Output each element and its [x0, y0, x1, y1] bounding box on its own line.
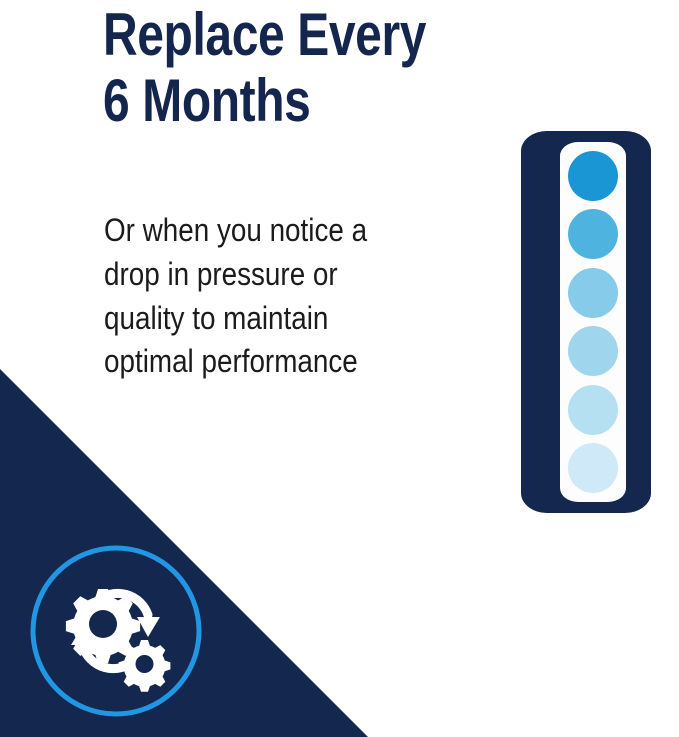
cartridge-capacity-window	[560, 142, 626, 502]
gear-small-icon	[119, 640, 171, 692]
infographic-canvas: Replace Every 6 Months Or when you notic…	[0, 0, 679, 737]
page-title: Replace Every 6 Months	[103, 2, 479, 134]
replacement-cycle-icon	[28, 543, 204, 719]
subtitle-text: Or when you notice a drop in pressure or…	[104, 209, 452, 384]
capacity-dot	[568, 385, 618, 435]
capacity-dot	[568, 209, 618, 259]
arrow-clockwise-head-icon	[137, 617, 160, 637]
capacity-dot	[568, 326, 618, 376]
capacity-dot	[568, 268, 618, 318]
capacity-dot	[568, 151, 618, 201]
water-filter-cartridge	[521, 131, 651, 513]
capacity-dot	[568, 443, 618, 493]
